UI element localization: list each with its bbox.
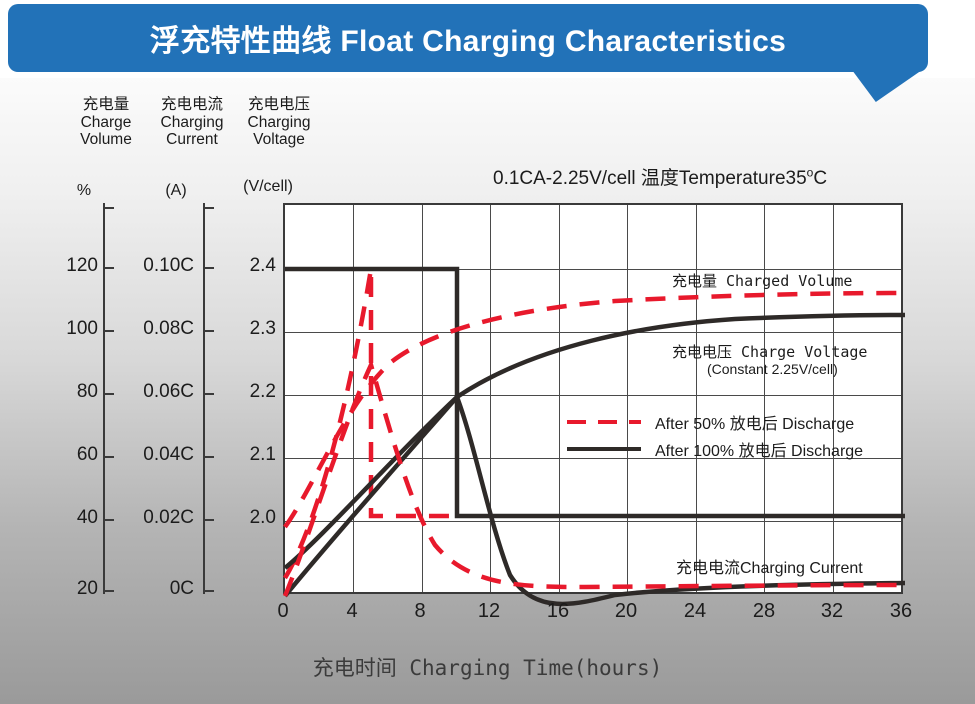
x-axis-label: 28: [742, 600, 786, 623]
chart-page: 浮充特性曲线 Float Charging Characteristics 充电…: [0, 0, 975, 704]
axis-header-charging-voltage: 充电电压 Charging Voltage: [233, 96, 325, 149]
annotation-conditions-unit: C: [813, 168, 827, 189]
y-axis-label: 0.10C: [120, 255, 194, 277]
annotation-charged-volume: 充电量 Charged Volume: [672, 270, 852, 291]
y-axis-tick: [103, 519, 114, 521]
x-axis-label: 24: [673, 600, 717, 623]
y-axis-label: 60: [40, 444, 98, 466]
plot-area: [283, 203, 903, 594]
y-axis-label: 2.3: [226, 318, 276, 340]
x-axis-title: 充电时间 Charging Time(hours): [0, 652, 975, 682]
page-title: 浮充特性曲线 Float Charging Characteristics: [150, 16, 786, 60]
y-axis-tick: [103, 267, 114, 269]
x-axis-label: 4: [330, 600, 374, 623]
y-axis-tick: [203, 456, 214, 458]
x-axis-label: 0: [261, 600, 305, 623]
legend-label-after-100: After 100% 放电后 Discharge: [655, 437, 863, 461]
x-axis-label: 32: [810, 600, 854, 623]
y-axis-label: 80: [40, 381, 98, 403]
x-axis-label: 20: [604, 600, 648, 623]
y-axis-label: 2.0: [226, 507, 276, 529]
legend-item-after-50: After 50% 放电后 Discharge: [567, 408, 863, 435]
y-axis-tick: [203, 267, 214, 269]
annotation-conditions: 0.1CA-2.25V/cell 温度Temperature35oC: [493, 163, 827, 190]
axis-unit-charge-volume: %: [64, 182, 104, 200]
y-axis-tick: [103, 207, 114, 209]
curve-layer: [285, 205, 905, 596]
y-axis-label: 2.4: [226, 255, 276, 277]
legend-item-after-100: After 100% 放电后 Discharge: [567, 435, 863, 462]
y-axis-tick: [203, 519, 214, 521]
axis-unit-charging-voltage: (V/cell): [228, 178, 308, 196]
y-axis-tick: [103, 456, 114, 458]
x-axis-label: 12: [467, 600, 511, 623]
y-axis-tick: [203, 330, 214, 332]
y-axis-label: 100: [40, 318, 98, 340]
y-axis-label: 40: [40, 507, 98, 529]
legend-swatch-dashed-icon: [567, 414, 641, 430]
x-axis-label: 16: [536, 600, 580, 623]
axis-header-charge-volume: 充电量 Charge Volume: [62, 96, 150, 149]
y-axis-label: 0C: [120, 578, 194, 600]
y-axis-tick: [103, 393, 114, 395]
legend-swatch-solid-icon: [567, 441, 641, 457]
annotation-charge-voltage: 充电电压 Charge Voltage: [672, 341, 867, 362]
y-axis-label: 0.08C: [120, 318, 194, 340]
axis-header-charging-current: 充电电流 Charging Current: [148, 96, 236, 149]
y-axis-label: 2.1: [226, 444, 276, 466]
y-axis-label: 0.06C: [120, 381, 194, 403]
annotation-charge-voltage-constant: (Constant 2.25V/cell): [707, 361, 838, 377]
y-axis-label: 0.04C: [120, 444, 194, 466]
annotation-charging-current: 充电电流Charging Current: [676, 554, 863, 578]
y-axis-tick: [203, 590, 214, 592]
y-axis-tick: [203, 207, 214, 209]
y-axis-label: 20: [40, 578, 98, 600]
axis-unit-charging-current: (A): [150, 182, 202, 200]
y-axis-tick: [103, 590, 114, 592]
y-axis-line-charging-current: [203, 203, 205, 594]
y-axis-line-charge-volume: [103, 203, 105, 594]
y-axis-tick: [103, 330, 114, 332]
title-banner: 浮充特性曲线 Float Charging Characteristics: [8, 4, 928, 72]
legend: After 50% 放电后 Discharge After 100% 放电后 D…: [567, 408, 863, 462]
x-axis-label: 8: [398, 600, 442, 623]
y-axis-tick: [203, 393, 214, 395]
annotation-conditions-text: 0.1CA-2.25V/cell 温度Temperature35: [493, 168, 807, 189]
y-axis-label: 120: [40, 255, 98, 277]
x-axis-label: 36: [879, 600, 923, 623]
y-axis-label: 2.2: [226, 381, 276, 403]
legend-label-after-50: After 50% 放电后 Discharge: [655, 410, 854, 434]
y-axis-label: 0.02C: [120, 507, 194, 529]
